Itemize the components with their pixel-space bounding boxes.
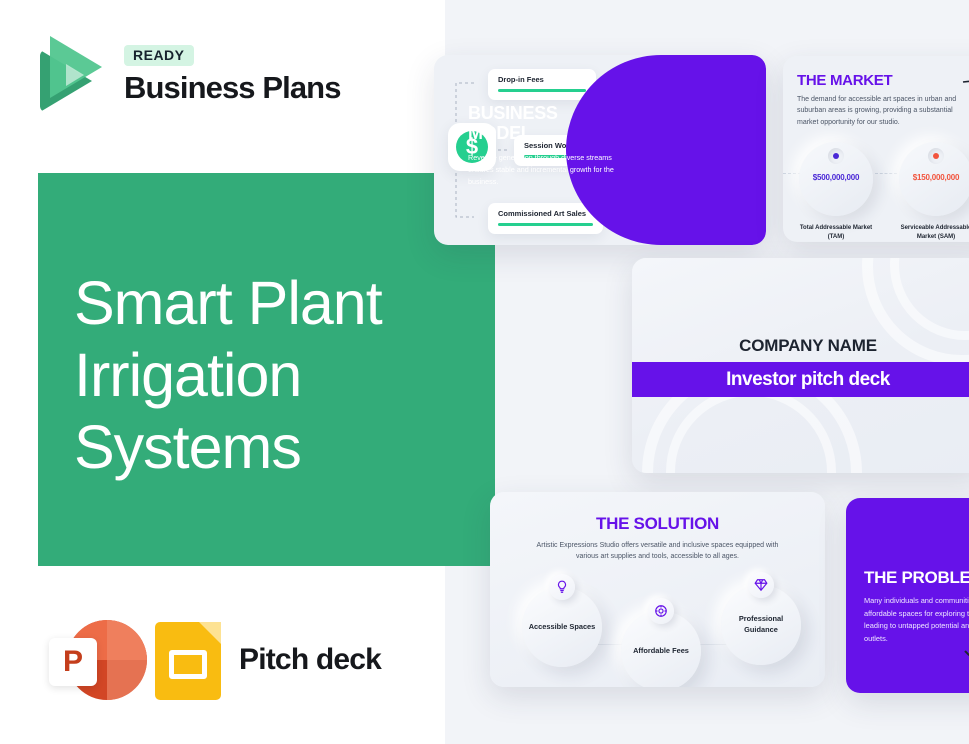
target-icon <box>648 598 674 624</box>
brand-logo: READY Business Plans <box>40 36 341 112</box>
slide-body: Artistic Expressions Studio offers versa… <box>533 540 783 563</box>
slide-body: Many individuals and communities lack ac… <box>864 595 969 646</box>
slide-the-problem[interactable]: THE PROBLEM Many individuals and communi… <box>846 498 969 693</box>
slide-heading: THE MARKET <box>797 72 892 89</box>
play-triangle-logo-icon <box>40 36 110 112</box>
slide-the-solution[interactable]: THE SOLUTION Artistic Expressions Studio… <box>490 492 825 687</box>
node-label: Accessible Spaces <box>529 622 596 633</box>
business-model-item: Drop-in Fees <box>488 69 596 100</box>
page-title: Smart Plant Irrigation Systems <box>74 268 464 484</box>
business-model-text: BUSINESS MODEL Revenue generation throug… <box>468 103 618 187</box>
node-label: Affordable Fees <box>633 646 689 657</box>
metric-value: $150,000,000 <box>899 173 969 182</box>
item-label: Drop-in Fees <box>498 75 586 84</box>
slide-the-market[interactable]: THE MARKET The demand for accessible art… <box>783 56 969 242</box>
item-label: Commissioned Art Sales <box>498 209 593 218</box>
swoosh-icon <box>963 647 969 671</box>
metric-caption: Serviceable Addressable Market (SAM) <box>891 224 969 241</box>
metric-value: $500,000,000 <box>799 173 873 182</box>
diamond-icon <box>748 572 774 598</box>
investor-subtitle: Investor pitch deck <box>726 369 890 391</box>
slide-body: The demand for accessible art spaces in … <box>797 94 957 128</box>
format-row: P Pitch deck <box>45 616 381 704</box>
slide-business-model[interactable]: Drop-in Fees Session Workshops Commissio… <box>434 55 766 245</box>
powerpoint-letter: P <box>63 647 83 677</box>
powerpoint-icon: P <box>45 616 137 704</box>
slide-heading: THE SOLUTION <box>490 514 825 534</box>
node-label: Professional Guidance <box>721 614 801 635</box>
slide-heading: THE PROBLEM <box>864 568 969 588</box>
ready-badge: READY <box>124 45 194 66</box>
slide-heading: BUSINESS MODEL <box>468 103 618 143</box>
investor-band: Investor pitch deck <box>632 362 969 397</box>
brand-title: Business Plans <box>124 72 341 105</box>
lightbulb-icon <box>549 574 575 600</box>
slide-body: Revenue generation through diverse strea… <box>468 152 618 187</box>
slide-investor-pitch-deck[interactable]: COMPANY NAME Investor pitch deck <box>632 258 969 473</box>
brand-text: READY Business Plans <box>124 43 341 105</box>
google-slides-icon <box>155 620 221 700</box>
metric-circle-tam: $500,000,000 <box>799 142 873 216</box>
format-label: Pitch deck <box>239 643 381 677</box>
company-name: COMPANY NAME <box>632 336 969 356</box>
metric-caption: Total Addressable Market (TAM) <box>791 224 881 241</box>
metric-circle-sam: $150,000,000 <box>899 142 969 216</box>
curved-arrow-icon <box>961 74 969 120</box>
